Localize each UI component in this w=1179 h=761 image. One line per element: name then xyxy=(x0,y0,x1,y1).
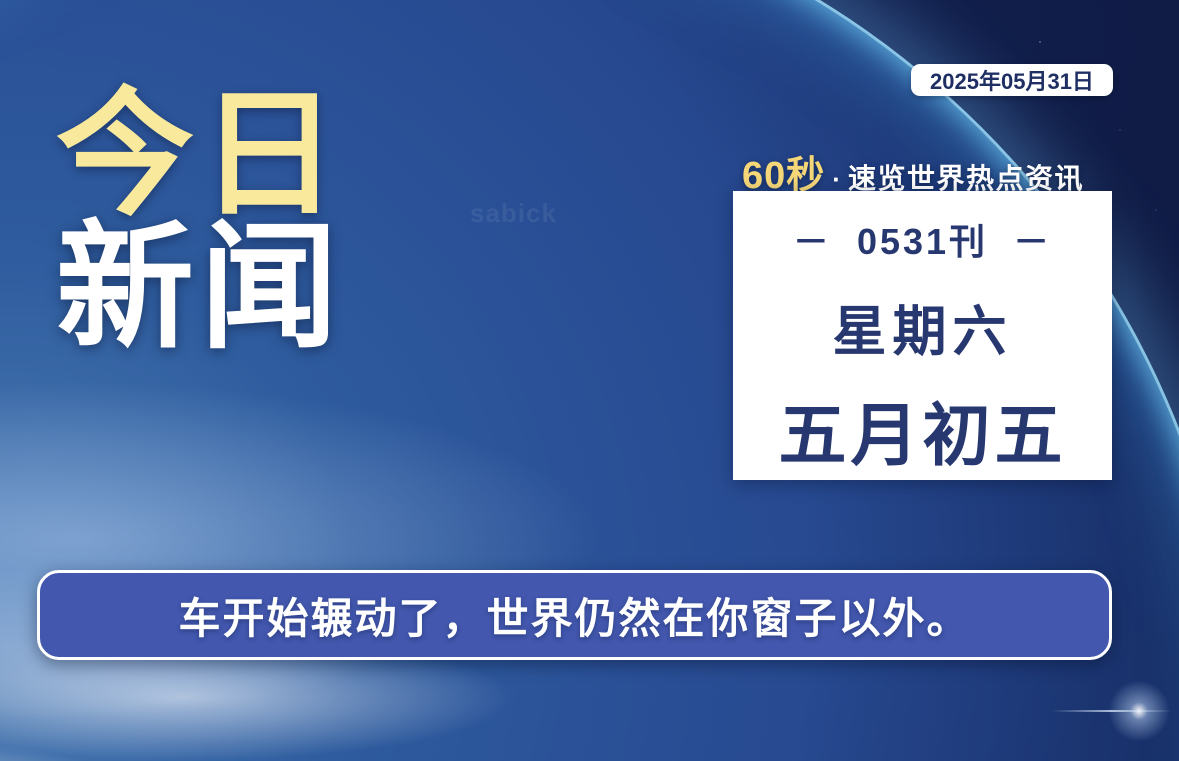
issue-dash-right: － xyxy=(1013,221,1052,262)
date-badge-label: 2025年05月31日 xyxy=(930,64,1094,96)
quote-text: 车开始辗动了，世界仍然在你窗子以外。 xyxy=(178,585,970,646)
issue-number: 0531刊 xyxy=(857,221,988,262)
page-title: 今日 新闻 xyxy=(56,92,344,352)
weekday-label: 星期六 xyxy=(833,287,1013,366)
lunar-date-label: 五月初五 xyxy=(778,380,1066,479)
date-badge: 2025年05月31日 xyxy=(911,64,1113,96)
lens-flare-star-icon xyxy=(1104,676,1174,746)
poster-canvas: sabick 今日 新闻 2025年05月31日 60秒 · 速览世界热点资讯 … xyxy=(0,0,1179,761)
issue-dash-left: － xyxy=(793,221,832,262)
issue-info-card: － 0531刊 － 星期六 五月初五 xyxy=(733,191,1112,480)
page-title-line-2: 新闻 xyxy=(56,225,344,352)
background-watermark: sabick xyxy=(470,198,557,229)
page-title-line-1: 今日 xyxy=(56,92,344,219)
issue-number-row: － 0531刊 － xyxy=(781,213,1064,265)
quote-banner: 车开始辗动了，世界仍然在你窗子以外。 xyxy=(37,570,1112,660)
